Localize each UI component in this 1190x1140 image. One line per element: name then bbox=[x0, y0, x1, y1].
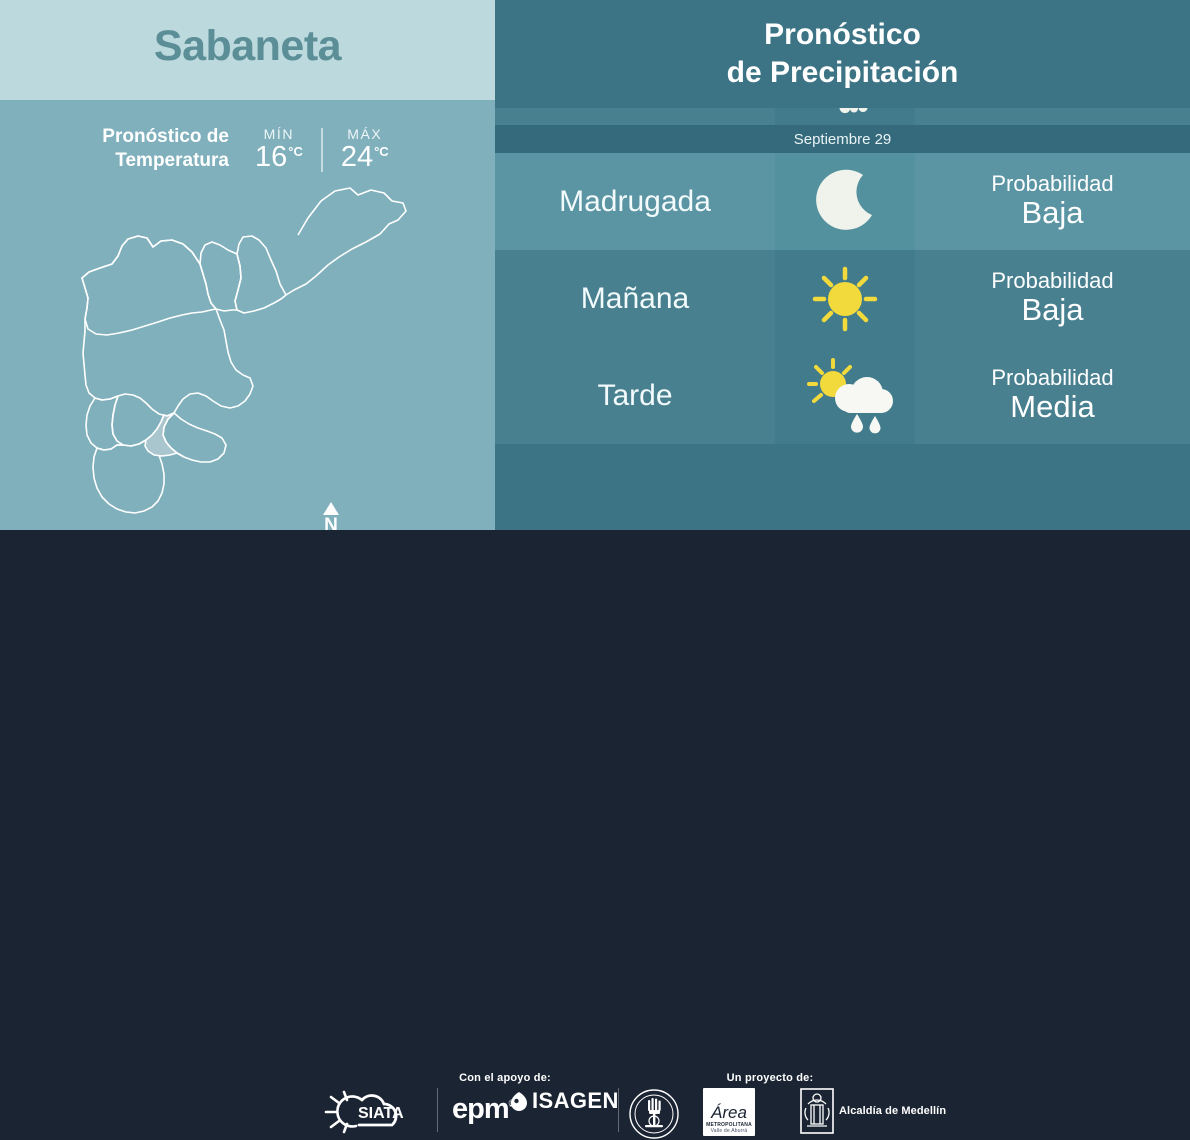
probability-value: Baja bbox=[1021, 196, 1083, 231]
left-panel: Sabaneta Pronóstico de Temperatura MÍN 1… bbox=[0, 0, 495, 530]
epm-wordmark: epm bbox=[452, 1088, 509, 1132]
forecast-period-cell: Mañana bbox=[495, 250, 775, 347]
compass-north-icon: N bbox=[317, 502, 345, 530]
isagen-wordmark: ISAGEN bbox=[532, 1088, 619, 1114]
sun-rain-cloud-icon bbox=[775, 347, 915, 444]
map-region-medellin bbox=[82, 236, 253, 416]
precipitation-header: Pronóstico de Precipitación bbox=[495, 0, 1190, 108]
forecast-row-manana[interactable]: Mañana Pr bbox=[495, 250, 1190, 347]
moon-icon bbox=[775, 153, 915, 250]
forecast-period-cell: Madrugada bbox=[495, 153, 775, 250]
alcaldia-wordmark: Alcaldía de Medellín bbox=[839, 1105, 946, 1117]
forecast-row-madrugada[interactable]: Madrugada Probabilidad Baja bbox=[495, 153, 1190, 250]
probability-value: Media bbox=[1010, 390, 1094, 425]
alcaldia-coat-of-arms-icon bbox=[800, 1088, 834, 1134]
support-caption: Con el apoyo de: bbox=[395, 1072, 615, 1084]
map-region-barbosa bbox=[286, 188, 406, 295]
divider bbox=[618, 1088, 619, 1132]
map-region-girardota bbox=[235, 236, 286, 313]
precipitation-title-line2: de Precipitación bbox=[727, 54, 959, 92]
temperature-max-value-group: 24 °C bbox=[341, 143, 389, 172]
right-panel: Pronóstico de Precipitación Septiembre 2… bbox=[495, 0, 1190, 530]
sun-rain-cloud-svg bbox=[797, 355, 893, 437]
area-wordmark: Área bbox=[711, 1104, 747, 1121]
date-label: Septiembre 29 bbox=[794, 131, 892, 148]
temperature-title-line2: Temperatura bbox=[102, 149, 229, 173]
probability-label: Probabilidad bbox=[991, 366, 1113, 391]
map-region-sabaneta-highlight bbox=[145, 413, 177, 456]
temperature-values: MÍN 16 °C MÁX 24 °C bbox=[251, 126, 393, 172]
logo-alcaldia-medellin[interactable]: Alcaldía de Medellín bbox=[800, 1088, 946, 1134]
temperature-min-value-group: 16 °C bbox=[255, 143, 303, 172]
temperature-title: Pronóstico de Temperatura bbox=[102, 125, 229, 174]
temperature-min-unit: °C bbox=[288, 145, 303, 158]
municipality-map: N bbox=[40, 172, 460, 524]
moon-svg bbox=[806, 163, 884, 241]
forecast-period-cell: Tarde bbox=[495, 347, 775, 444]
temperature-max: MÁX 24 °C bbox=[337, 126, 393, 172]
probability-label: Probabilidad bbox=[991, 172, 1113, 197]
area-subtitle-2: Valle de Aburrá bbox=[711, 1128, 748, 1134]
probability-value: Baja bbox=[1021, 293, 1083, 328]
siata-wordmark: SIATA bbox=[358, 1105, 404, 1122]
divider bbox=[437, 1088, 438, 1132]
compass-label: N bbox=[317, 516, 345, 530]
logo-universidad-seal[interactable] bbox=[628, 1088, 680, 1140]
temperature-min-value: 16 bbox=[255, 143, 287, 172]
logo-siata[interactable]: SIATA bbox=[322, 1088, 430, 1136]
university-seal-icon bbox=[628, 1088, 680, 1140]
map-region-copacabana bbox=[200, 242, 241, 311]
forecast-probability-cell: Probabilidad Baja bbox=[915, 153, 1190, 250]
compass-arrow-icon bbox=[323, 502, 339, 515]
page-title: Sabaneta bbox=[0, 22, 495, 71]
logo-area-metropolitana[interactable]: Área METROPOLITANA Valle de Aburrá bbox=[703, 1088, 755, 1136]
temperature-min: MÍN 16 °C bbox=[251, 126, 307, 172]
temperature-summary: Pronóstico de Temperatura MÍN 16 °C MÁX … bbox=[0, 118, 495, 180]
footer-divider-2 bbox=[618, 1088, 619, 1132]
isagen-mark-icon bbox=[508, 1090, 530, 1112]
project-caption: Un proyecto de: bbox=[660, 1072, 880, 1084]
temperature-title-line1: Pronóstico de bbox=[102, 125, 229, 149]
forecast-probability-cell: Probabilidad Media bbox=[915, 347, 1190, 444]
sun-icon bbox=[775, 250, 915, 347]
date-band-sep-29: Septiembre 29 bbox=[495, 125, 1190, 153]
map-svg bbox=[40, 172, 460, 524]
forecast-period-label: Tarde bbox=[597, 379, 672, 413]
temperature-divider bbox=[321, 128, 323, 172]
sun-svg bbox=[803, 257, 887, 341]
temperature-max-unit: °C bbox=[374, 145, 389, 158]
area-tile: Área METROPOLITANA Valle de Aburrá bbox=[703, 1088, 755, 1136]
precipitation-title-line1: Pronóstico bbox=[764, 16, 921, 54]
footer: Con el apoyo de: Un proyecto de: SIATA bbox=[0, 530, 1190, 620]
temperature-min-label: MÍN bbox=[255, 126, 303, 142]
logo-epm[interactable]: epm ® bbox=[452, 1088, 515, 1132]
forecast-period-label: Madrugada bbox=[559, 185, 711, 219]
forecast-row-tarde[interactable]: Tarde bbox=[495, 347, 1190, 444]
temperature-max-label: MÁX bbox=[341, 126, 389, 142]
map-region-la-estrella bbox=[86, 396, 123, 450]
footer-divider-1 bbox=[437, 1088, 438, 1132]
weather-infographic: Sabaneta Pronóstico de Temperatura MÍN 1… bbox=[0, 0, 1190, 620]
logo-isagen[interactable]: ISAGEN bbox=[508, 1088, 619, 1114]
forecast-probability-cell: Probabilidad Baja bbox=[915, 250, 1190, 347]
map-region-bello bbox=[82, 236, 216, 335]
siata-logo-svg: SIATA bbox=[322, 1088, 430, 1136]
temperature-max-value: 24 bbox=[341, 143, 373, 172]
probability-label: Probabilidad bbox=[991, 269, 1113, 294]
forecast-period-label: Mañana bbox=[581, 282, 689, 316]
